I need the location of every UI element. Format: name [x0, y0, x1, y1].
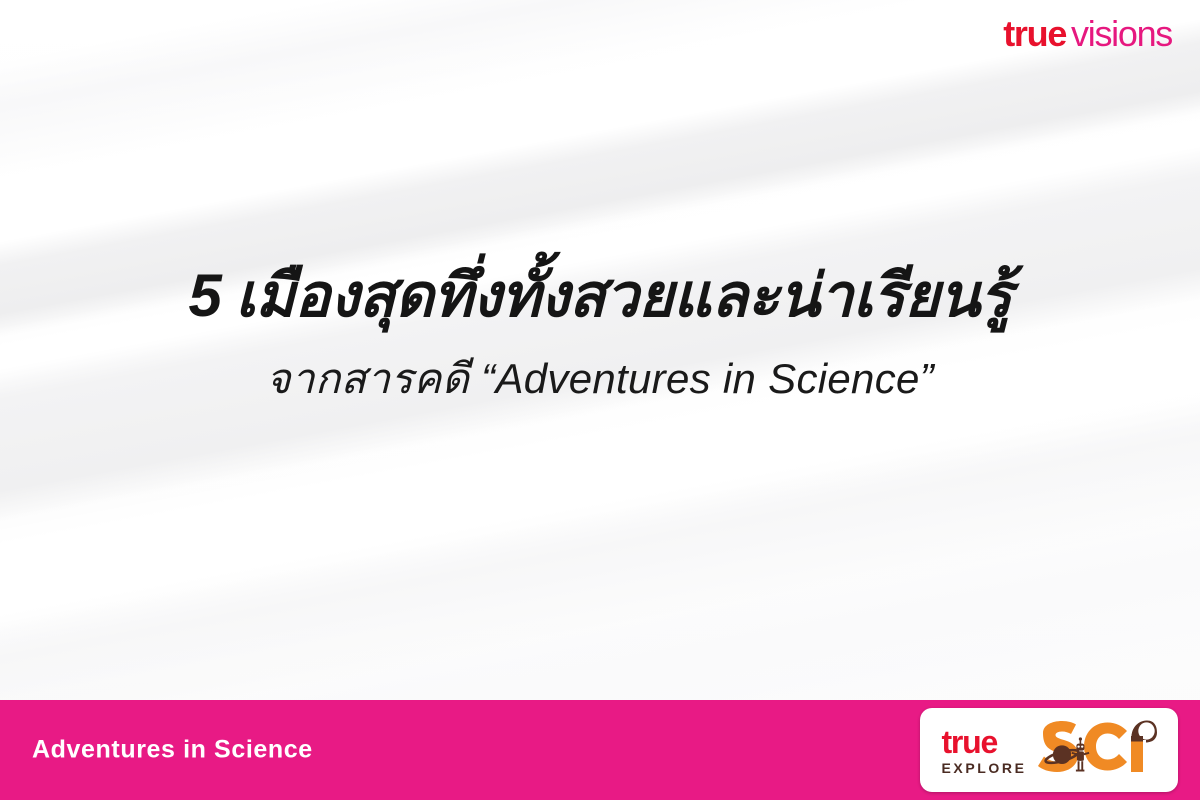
head-brain-icon [1131, 721, 1157, 743]
footer-bar: Adventures in Science true EXPLORE [0, 700, 1200, 800]
truevisions-logo-visions: visions [1071, 13, 1172, 54]
true-explore-sci-badge[interactable]: true EXPLORE [920, 708, 1178, 792]
headline-count: 5 [188, 262, 221, 329]
badge-explore-label: EXPLORE [941, 761, 1026, 775]
headline-block: 5เมืองสุดทึ่งทั้งสวยและน่าเรียนรู้ จากสา… [0, 262, 1200, 403]
headline-thai-text: เมืองสุดทึ่งทั้งสวยและน่าเรียนรู้ [235, 262, 1011, 329]
sci-letter-i-stem [1131, 741, 1143, 772]
badge-true-label: true [941, 726, 997, 758]
page-title: 5เมืองสุดทึ่งทั้งสวยและน่าเรียนรู้ [0, 262, 1200, 329]
page-subtitle: จากสารคดี “Adventures in Science” [0, 355, 1200, 403]
truevisions-logo-true: true [1003, 13, 1066, 54]
program-title: Adventures in Science [32, 736, 313, 765]
sci-letter-c [1084, 723, 1127, 771]
badge-wordmark: true EXPLORE [941, 726, 1026, 775]
slide-canvas: truevisions 5เมืองสุดทึ่งทั้งสวยและน่าเร… [0, 0, 1200, 800]
truevisions-logo: truevisions [1003, 16, 1172, 52]
sci-logotype [1035, 719, 1157, 781]
